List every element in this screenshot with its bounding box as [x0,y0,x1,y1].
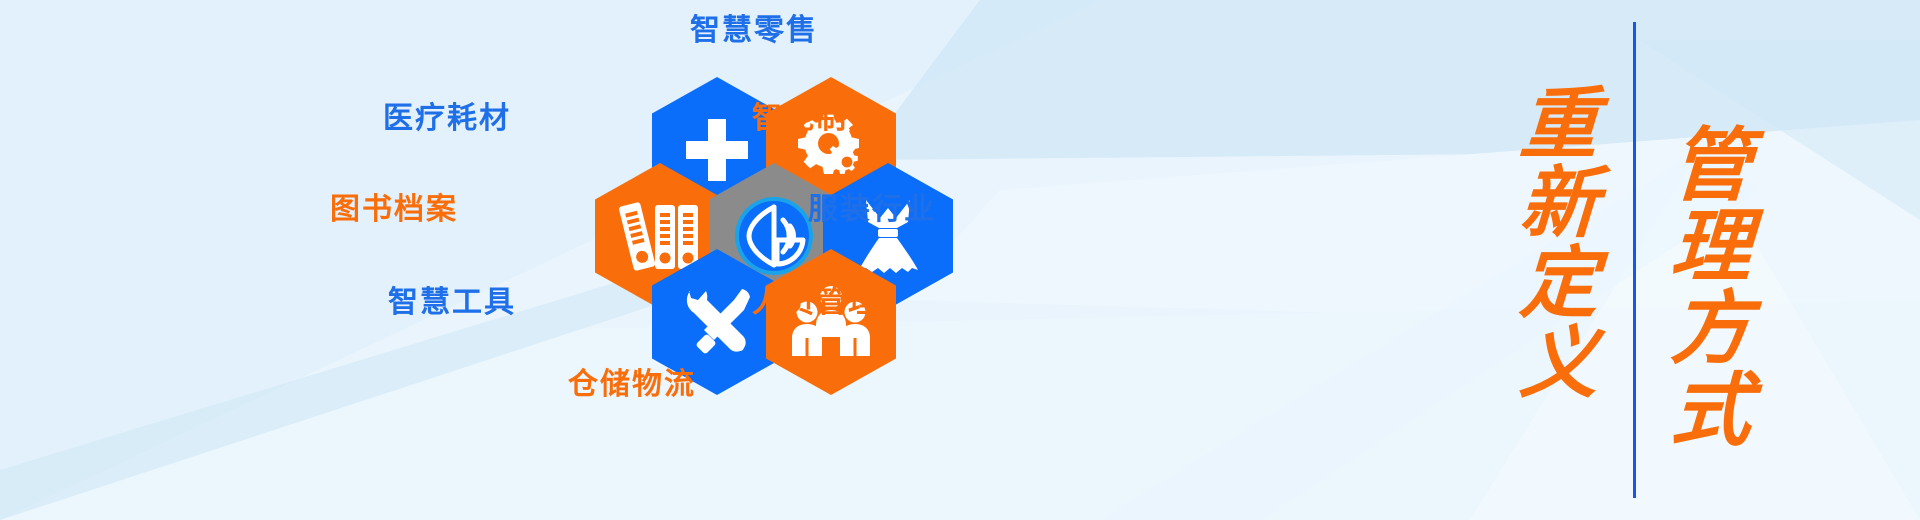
calligraphy-char: 义 [1518,324,1600,404]
calligraphy-char: 方 [1669,290,1753,372]
calligraphy-char: 新 [1518,164,1600,244]
label-smart-tools: 智慧工具 [388,288,516,318]
label-warehouse-logistics: 仓储物流 [568,370,696,400]
calligraphy-char: 理 [1669,208,1753,290]
calligraphy-char: 式 [1669,372,1753,454]
label-library-archives: 图书档案 [330,195,458,225]
binders-icon [617,199,703,273]
calligraphy-column-right: 管 理 方 式 [1652,0,1770,520]
wrench-screwdriver-icon [676,281,758,363]
calligraphy-column-left: 重 新 定 义 [1500,0,1618,520]
label-smart-retail: 智慧零售 [690,16,818,46]
label-apparel-industry: 服装行业 [808,195,936,225]
medical-cross-icon [680,113,754,187]
label-medical-supplies: 医疗耗材 [383,104,511,134]
label-smart-manufacturing: 智能制造 [752,104,880,134]
banner-root: 智慧零售 医疗耗材 智能制造 图书档案 服装行业 智慧工具 人员管理 仓储物流 … [0,0,1920,520]
label-personnel-management: 人员管理 [752,288,880,318]
calligraphy-char: 管 [1669,127,1753,209]
calligraphy-char: 定 [1518,244,1600,324]
rfid-wave-logo [733,195,815,277]
calligraphy-char: 重 [1518,85,1600,165]
calligraphy-block: 重 新 定 义 管 理 方 式 [1500,0,1780,520]
calligraphy-divider [1633,22,1636,498]
